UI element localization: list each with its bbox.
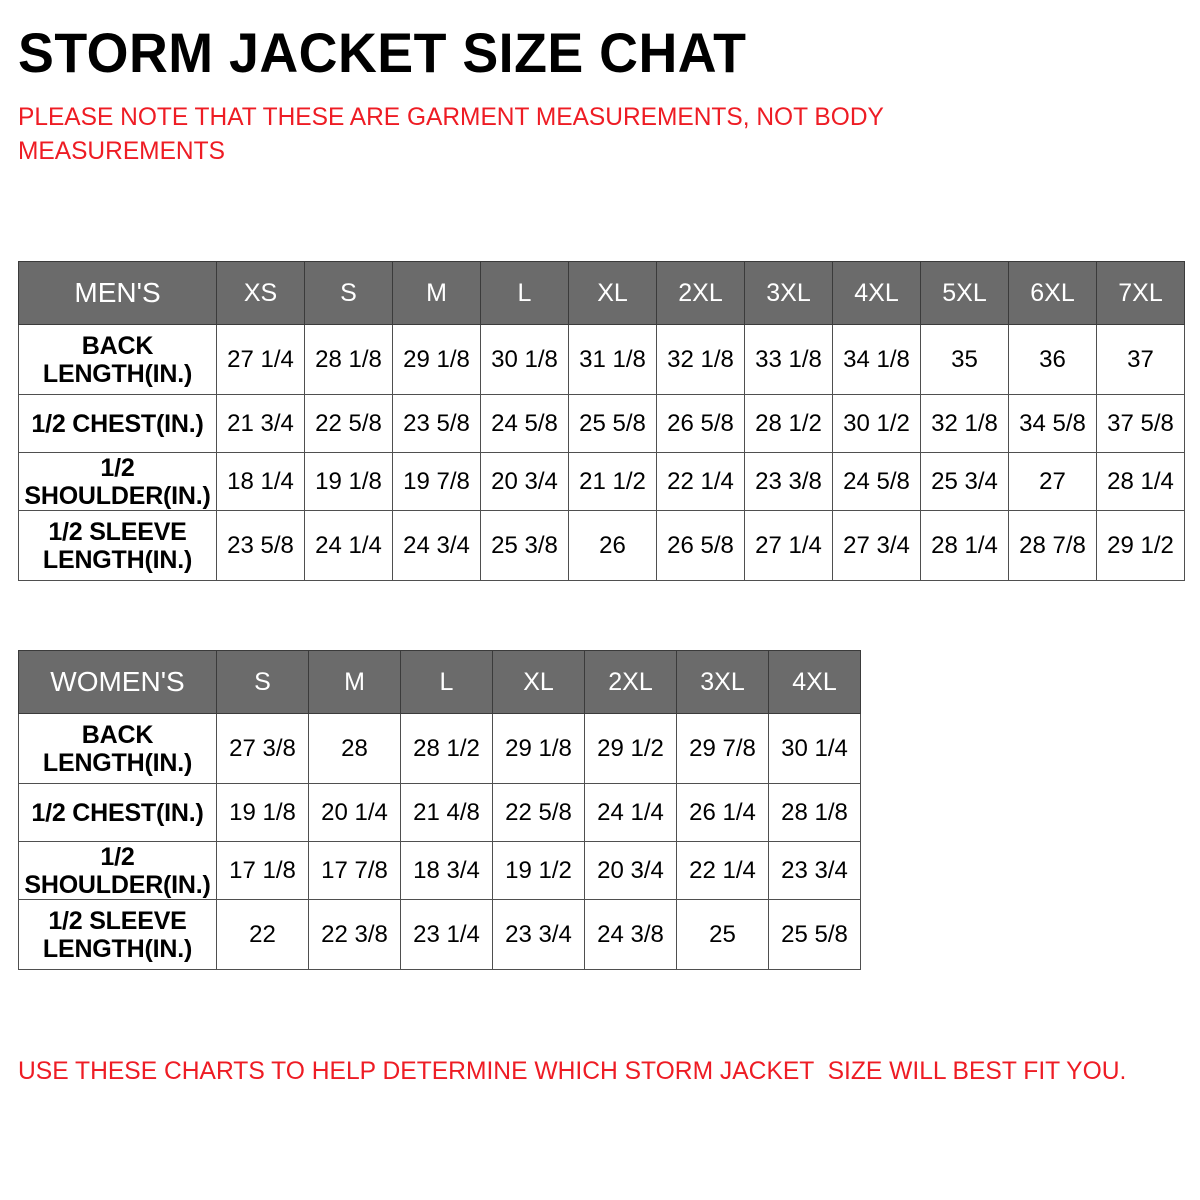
mens-row-label-half-shoulder: 1/2 SHOULDER(IN.) [19,453,217,511]
cell: 21 3/4 [217,395,305,453]
cell: 24 5/8 [833,453,921,511]
garment-measurement-note: PLEASE NOTE THAT THESE ARE GARMENT MEASU… [18,83,959,169]
cell: 27 1/4 [217,325,305,395]
womens-col-header-s: S [217,651,309,714]
cell: 27 3/4 [833,511,921,581]
label-line: BACK [82,332,153,360]
cell: 29 1/2 [1097,511,1185,581]
size-chart-page: STORM JACKET SIZE CHAT PLEASE NOTE THAT … [0,0,1200,1200]
cell: 28 1/8 [305,325,393,395]
cell: 35 [921,325,1009,395]
womens-col-header-3xl: 3XL [677,651,769,714]
cell: 17 1/8 [217,842,309,900]
cell: 24 1/4 [305,511,393,581]
cell: 30 1/4 [769,714,861,784]
cell: 28 1/4 [1097,453,1185,511]
womens-row-label-back-length: BACK LENGTH(IN.) [19,714,217,784]
cell: 29 1/8 [493,714,585,784]
mens-col-header-xs: XS [217,262,305,325]
cell: 25 [677,900,769,970]
cell: 18 3/4 [401,842,493,900]
table-row: 1/2 SLEEVE LENGTH(IN.) 22 22 3/8 23 1/4 … [19,900,861,970]
mens-table-body: BACK LENGTH(IN.) 27 1/4 28 1/8 29 1/8 30… [19,325,1185,581]
womens-col-header-4xl: 4XL [769,651,861,714]
womens-table-head: WOMEN'S S M L XL 2XL 3XL 4XL [19,651,861,714]
cell: 20 3/4 [585,842,677,900]
cell: 33 1/8 [745,325,833,395]
cell: 23 3/8 [745,453,833,511]
mens-row-label-half-chest: 1/2 CHEST(IN.) [19,395,217,453]
mens-col-header-s: S [305,262,393,325]
cell: 22 3/8 [309,900,401,970]
womens-col-header-l: L [401,651,493,714]
womens-row-label-half-shoulder: 1/2 SHOULDER(IN.) [19,842,217,900]
cell: 22 5/8 [493,784,585,842]
cell: 22 1/4 [657,453,745,511]
cell: 29 7/8 [677,714,769,784]
label-line: LENGTH(IN.) [43,360,192,388]
cell: 23 5/8 [217,511,305,581]
mens-col-header-7xl: 7XL [1097,262,1185,325]
cell: 34 1/8 [833,325,921,395]
mens-col-header-6xl: 6XL [1009,262,1097,325]
cell: 19 7/8 [393,453,481,511]
cell: 23 1/4 [401,900,493,970]
cell: 19 1/8 [305,453,393,511]
label-line: 1/2 SLEEVE [48,907,186,935]
womens-row-label-half-chest: 1/2 CHEST(IN.) [19,784,217,842]
cell: 18 1/4 [217,453,305,511]
cell: 32 1/8 [657,325,745,395]
table-row: 1/2 SHOULDER(IN.) 17 1/8 17 7/8 18 3/4 1… [19,842,861,900]
cell: 28 1/4 [921,511,1009,581]
mens-size-table-container: MEN'S XS S M L XL 2XL 3XL 4XL 5XL 6XL 7X… [18,261,1185,581]
cell: 29 1/8 [393,325,481,395]
cell: 24 3/4 [393,511,481,581]
womens-size-table: WOMEN'S S M L XL 2XL 3XL 4XL BACK LENGTH… [18,650,861,970]
cell: 31 1/8 [569,325,657,395]
cell: 17 7/8 [309,842,401,900]
cell: 23 5/8 [393,395,481,453]
label-line: BACK [82,721,153,749]
womens-row-label-half-sleeve-length: 1/2 SLEEVE LENGTH(IN.) [19,900,217,970]
cell: 22 [217,900,309,970]
cell: 34 5/8 [1009,395,1097,453]
label-line: LENGTH(IN.) [43,935,192,963]
cell: 22 5/8 [305,395,393,453]
womens-col-header-m: M [309,651,401,714]
cell: 20 3/4 [481,453,569,511]
mens-table-head: MEN'S XS S M L XL 2XL 3XL 4XL 5XL 6XL 7X… [19,262,1185,325]
womens-header-row: WOMEN'S S M L XL 2XL 3XL 4XL [19,651,861,714]
cell: 28 1/2 [401,714,493,784]
cell: 24 3/8 [585,900,677,970]
table-row: 1/2 SHOULDER(IN.) 18 1/4 19 1/8 19 7/8 2… [19,453,1185,511]
womens-size-table-container: WOMEN'S S M L XL 2XL 3XL 4XL BACK LENGTH… [18,650,861,970]
mens-col-header-4xl: 4XL [833,262,921,325]
mens-col-header-m: M [393,262,481,325]
cell: 28 1/2 [745,395,833,453]
table-row: 1/2 CHEST(IN.) 21 3/4 22 5/8 23 5/8 24 5… [19,395,1185,453]
cell: 25 3/4 [921,453,1009,511]
cell: 26 5/8 [657,395,745,453]
table-row: BACK LENGTH(IN.) 27 3/8 28 28 1/2 29 1/8… [19,714,861,784]
cell: 27 3/8 [217,714,309,784]
womens-corner-label: WOMEN'S [19,651,217,714]
cell: 29 1/2 [585,714,677,784]
mens-row-label-half-sleeve-length: 1/2 SLEEVE LENGTH(IN.) [19,511,217,581]
use-charts-note: USE THESE CHARTS TO HELP DETERMINE WHICH… [18,1056,1126,1086]
table-row: BACK LENGTH(IN.) 27 1/4 28 1/8 29 1/8 30… [19,325,1185,395]
cell: 37 5/8 [1097,395,1185,453]
mens-size-table: MEN'S XS S M L XL 2XL 3XL 4XL 5XL 6XL 7X… [18,261,1185,581]
mens-corner-label: MEN'S [19,262,217,325]
cell: 20 1/4 [309,784,401,842]
mens-col-header-3xl: 3XL [745,262,833,325]
cell: 19 1/8 [217,784,309,842]
label-line: LENGTH(IN.) [43,546,192,574]
mens-col-header-5xl: 5XL [921,262,1009,325]
cell: 30 1/8 [481,325,569,395]
cell: 25 3/8 [481,511,569,581]
cell: 24 5/8 [481,395,569,453]
cell: 28 1/8 [769,784,861,842]
cell: 23 3/4 [493,900,585,970]
page-title: STORM JACKET SIZE CHAT [18,0,1135,83]
label-line: 1/2 SLEEVE [48,518,186,546]
cell: 37 [1097,325,1185,395]
cell: 24 1/4 [585,784,677,842]
mens-row-label-back-length: BACK LENGTH(IN.) [19,325,217,395]
mens-col-header-l: L [481,262,569,325]
mens-header-row: MEN'S XS S M L XL 2XL 3XL 4XL 5XL 6XL 7X… [19,262,1185,325]
womens-col-header-2xl: 2XL [585,651,677,714]
cell: 30 1/2 [833,395,921,453]
cell: 28 [309,714,401,784]
cell: 26 [569,511,657,581]
cell: 22 1/4 [677,842,769,900]
cell: 36 [1009,325,1097,395]
cell: 26 1/4 [677,784,769,842]
table-row: 1/2 SLEEVE LENGTH(IN.) 23 5/8 24 1/4 24 … [19,511,1185,581]
cell: 23 3/4 [769,842,861,900]
label-line: LENGTH(IN.) [43,749,192,777]
cell: 21 4/8 [401,784,493,842]
mens-col-header-2xl: 2XL [657,262,745,325]
cell: 28 7/8 [1009,511,1097,581]
cell: 21 1/2 [569,453,657,511]
cell: 25 5/8 [569,395,657,453]
cell: 19 1/2 [493,842,585,900]
cell: 32 1/8 [921,395,1009,453]
womens-table-body: BACK LENGTH(IN.) 27 3/8 28 28 1/2 29 1/8… [19,714,861,970]
womens-col-header-xl: XL [493,651,585,714]
cell: 26 5/8 [657,511,745,581]
mens-col-header-xl: XL [569,262,657,325]
cell: 25 5/8 [769,900,861,970]
table-row: 1/2 CHEST(IN.) 19 1/8 20 1/4 21 4/8 22 5… [19,784,861,842]
cell: 27 [1009,453,1097,511]
cell: 27 1/4 [745,511,833,581]
